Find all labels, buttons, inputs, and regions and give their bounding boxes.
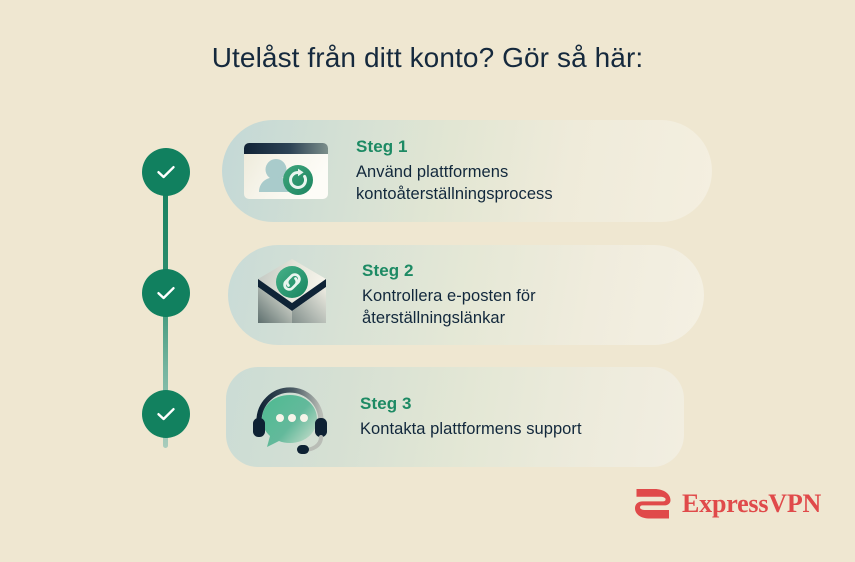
expressvpn-logo: ExpressVPN [633,487,821,521]
account-card-reset-icon [234,120,338,222]
step-text-3: Steg 3 Kontakta plattformens support [342,393,684,440]
envelope-link-icon [240,245,344,345]
check-icon [153,401,179,427]
timeline-node-1 [142,148,190,196]
timeline-node-3 [142,390,190,438]
step-label: Steg 3 [360,393,670,414]
step-card-1: Steg 1 Använd plattformens kontoåterstäl… [222,120,712,222]
check-icon [153,159,179,185]
expressvpn-wordmark: ExpressVPN [682,491,821,517]
step-card-3: Steg 3 Kontakta plattformens support [226,367,684,467]
check-icon [153,280,179,306]
step-label: Steg 2 [362,260,690,281]
step-description: Kontakta plattformens support [360,419,670,441]
step-text-1: Steg 1 Använd plattformens kontoåterstäl… [338,136,712,205]
step-label: Steg 1 [356,136,698,157]
timeline-node-2 [142,269,190,317]
headset-chat-icon [238,367,342,467]
timeline [142,148,190,448]
page-title: Utelåst från ditt konto? Gör så här: [0,42,855,74]
step-description: Använd plattformens kontoåterställningsp… [356,162,698,206]
step-description: Kontrollera e-posten för återställningsl… [362,286,690,330]
infographic-canvas: Utelåst från ditt konto? Gör så här: [0,0,855,562]
expressvpn-e-icon [633,487,673,521]
step-text-2: Steg 2 Kontrollera e-posten för återstäl… [344,260,704,329]
step-card-2: Steg 2 Kontrollera e-posten för återstäl… [228,245,704,345]
